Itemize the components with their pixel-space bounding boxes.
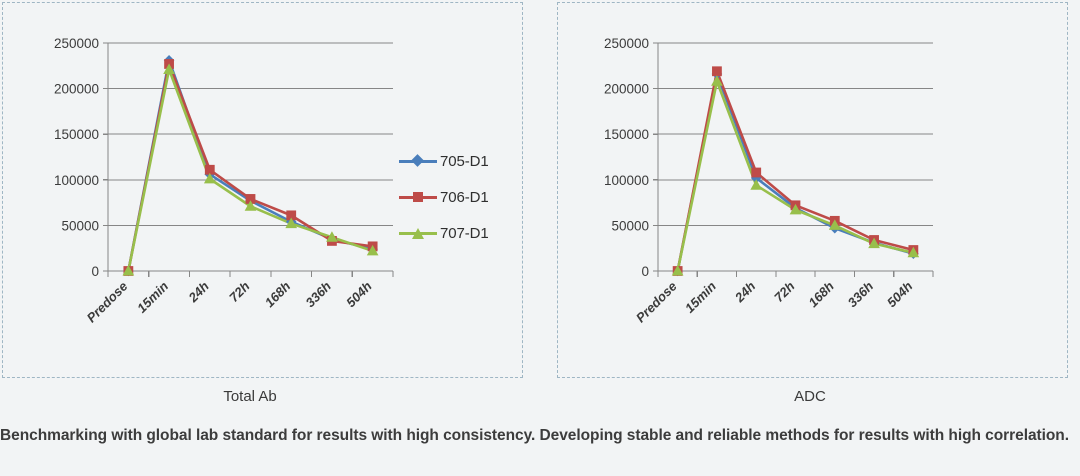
y-axis-tick-label: 150000 (54, 127, 99, 142)
panel-caption-total-ab: Total Ab (180, 388, 320, 405)
x-axis-tick-label: 15min (682, 278, 719, 315)
legend-item-label: 707-D1 (440, 225, 489, 242)
y-axis-tick-label: 250000 (54, 36, 99, 51)
screenshot-root: 050000100000150000200000250000Predose15m… (0, 0, 1080, 476)
x-axis-tick-label: 504h (884, 278, 916, 310)
y-axis-tick-label: 100000 (604, 173, 649, 188)
x-axis-tick-label: 72h (226, 278, 252, 304)
y-axis-tick-label: 200000 (54, 82, 99, 97)
x-axis-tick-label: 24h (731, 278, 758, 305)
y-axis-tick-label: 0 (91, 264, 99, 279)
legend-marker-icon (399, 226, 437, 240)
y-axis-tick-label: 0 (641, 264, 649, 279)
chart-plot-area-adc: 050000100000150000200000250000Predose15m… (558, 3, 1067, 377)
legend-item-label: 705-D1 (440, 153, 489, 170)
y-axis-tick-label: 250000 (604, 36, 649, 51)
x-axis-tick-label: 72h (771, 278, 797, 304)
y-axis-tick-label: 200000 (604, 82, 649, 97)
x-axis-tick-label: Predose (633, 279, 680, 326)
chart-svg-adc: 050000100000150000200000250000Predose15m… (558, 3, 1069, 379)
y-axis-tick-label: 50000 (61, 218, 99, 233)
data-point-marker (752, 168, 761, 177)
data-point-marker (205, 165, 214, 174)
x-axis-tick-label: 168h (805, 278, 837, 310)
legend-item[interactable]: 707-D1 (399, 215, 489, 251)
x-axis-tick-label: Predose (84, 279, 131, 326)
y-axis-tick-label: 100000 (54, 173, 99, 188)
x-axis-tick-label: 336h (845, 278, 877, 310)
x-axis-tick-label: 168h (262, 278, 294, 310)
legend-marker-icon (399, 190, 437, 204)
legend-item-label: 706-D1 (440, 189, 489, 206)
legend-marker-icon (399, 154, 437, 168)
x-axis-tick-label: 24h (185, 278, 212, 305)
panel-caption-adc: ADC (740, 388, 880, 405)
chart-legend-total-ab: 705-D1 706-D1 707-D1 (399, 143, 489, 251)
y-axis-tick-label: 150000 (604, 127, 649, 142)
data-point-marker (713, 67, 722, 76)
y-axis-tick-label: 50000 (611, 218, 649, 233)
x-axis-tick-label: 336h (302, 278, 334, 310)
x-axis-tick-label: 504h (343, 278, 375, 310)
legend-item[interactable]: 706-D1 (399, 179, 489, 215)
chart-panel-total-ab: 050000100000150000200000250000Predose15m… (2, 2, 523, 378)
legend-item[interactable]: 705-D1 (399, 143, 489, 179)
x-axis-tick-label: 15min (134, 278, 171, 315)
chart-panel-adc: 050000100000150000200000250000Predose15m… (557, 2, 1068, 378)
summary-text: Benchmarking with global lab standard fo… (0, 423, 1080, 449)
